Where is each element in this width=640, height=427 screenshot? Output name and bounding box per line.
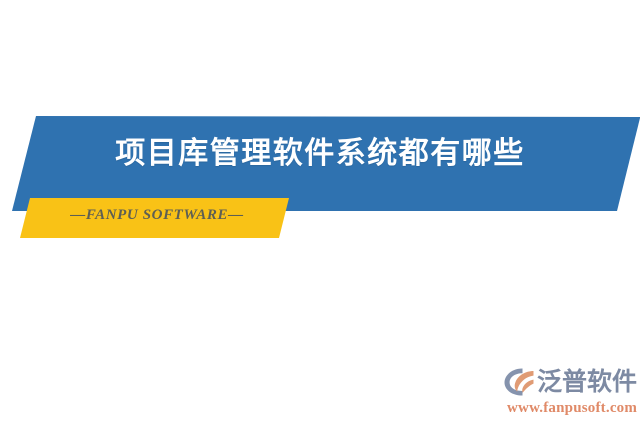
logo-row: 泛普软件: [503, 365, 637, 399]
page-title: 项目库管理软件系统都有哪些: [0, 134, 640, 174]
banner-group: 项目库管理软件系统都有哪些 —FANPU SOFTWARE—: [0, 0, 640, 260]
fanpu-bracket-logo-icon: [503, 367, 536, 397]
ribbon-caption: —FANPU SOFTWARE—: [38, 205, 276, 225]
logo-url: www.fanpusoft.com: [507, 399, 637, 417]
slide-canvas: 项目库管理软件系统都有哪些 —FANPU SOFTWARE— 泛普软件 www.…: [0, 0, 640, 427]
footer-logo: 泛普软件 www.fanpusoft.com: [503, 365, 640, 423]
logo-wordmark: 泛普软件: [537, 367, 637, 397]
